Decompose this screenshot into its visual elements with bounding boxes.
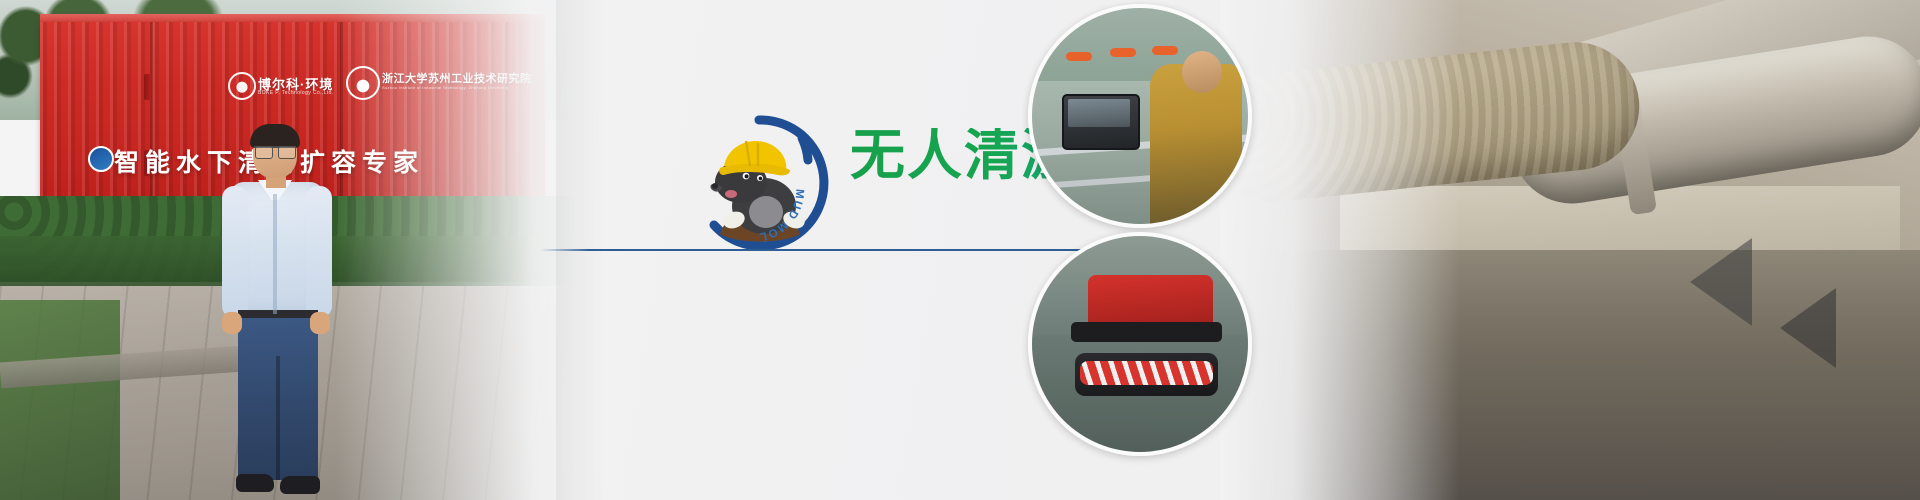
operator-console-photo <box>1028 4 1252 228</box>
robot-track <box>1071 322 1222 341</box>
console-screen <box>1068 99 1130 127</box>
dredging-robot-photo <box>1028 232 1252 456</box>
orange-buoy <box>1110 48 1136 57</box>
left-photo: 博尔科·环境 BOKE P. Technology Co.,Ltd. 浙江大学苏… <box>0 0 580 500</box>
arrow-accent-icon <box>1780 288 1836 368</box>
mud-mole-logo: MUD MOLE <box>684 108 834 258</box>
orange-buoy <box>1066 52 1092 61</box>
auger-screw <box>1080 361 1214 385</box>
left-photo-fade <box>0 0 580 500</box>
right-photo-fade <box>1220 0 1460 500</box>
operator-head <box>1182 51 1222 93</box>
hero-banner: 博尔科·环境 BOKE P. Technology Co.,Ltd. 浙江大学苏… <box>0 0 1920 500</box>
right-photo-collage <box>1220 0 1920 500</box>
orange-buoy <box>1152 46 1178 55</box>
arrow-accent-icon <box>1690 238 1752 326</box>
